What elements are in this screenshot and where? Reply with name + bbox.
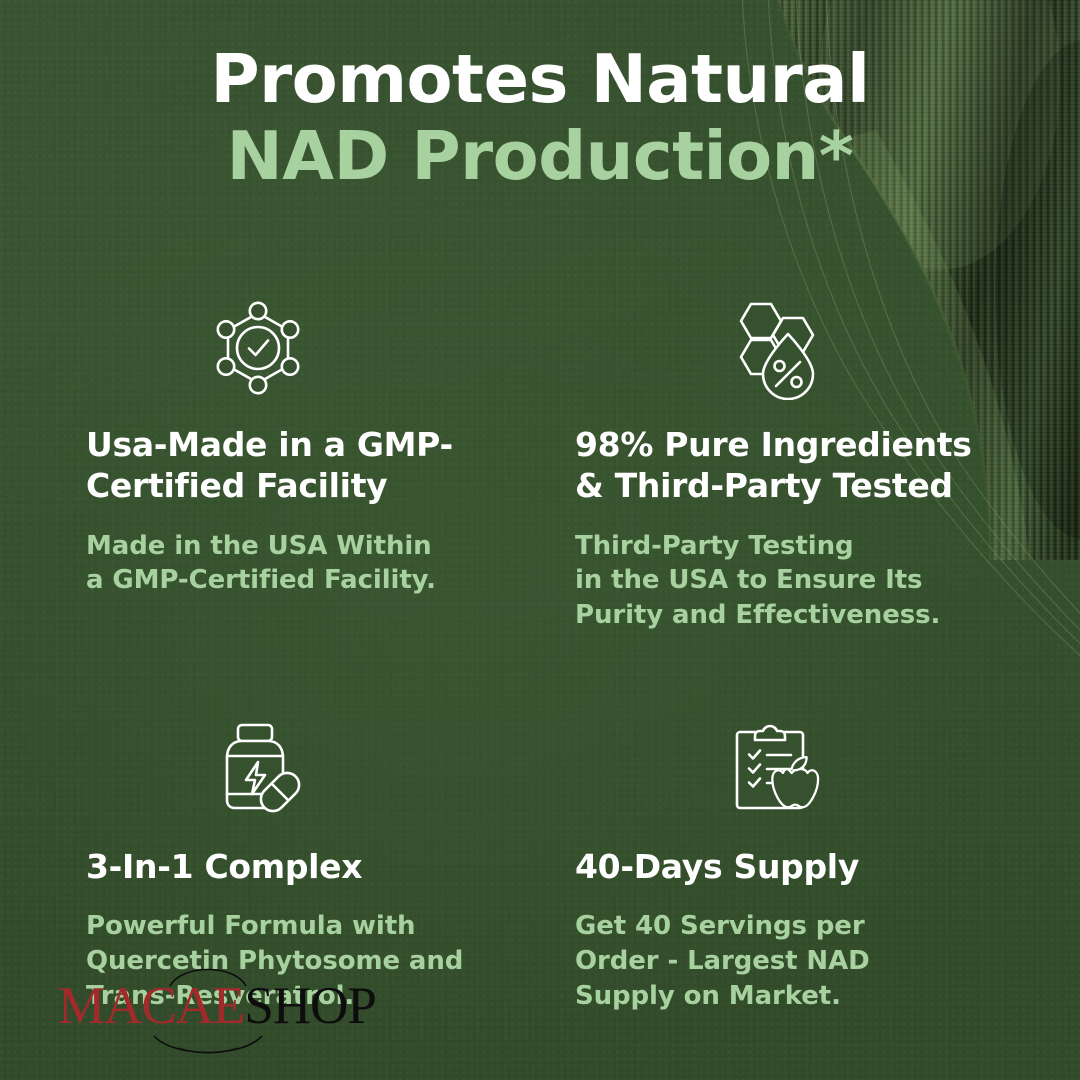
headline-line-2-text: NAD Production	[227, 117, 819, 195]
logo-part-shop: SHOP	[244, 977, 376, 1035]
feature-icon-slot	[575, 296, 1010, 400]
feature-title: Usa-Made in a GMP- Certified Facility	[86, 424, 505, 507]
feature-icon-slot	[575, 718, 1010, 822]
hexagon-droplet-percent-icon	[725, 296, 829, 400]
feature-card-usa-made: Usa-Made in a GMP- Certified Facility Ma…	[0, 296, 505, 633]
feature-title: 40-Days Supply	[575, 846, 1010, 887]
feature-title: 98% Pure Ingredients & Third-Party Teste…	[575, 424, 1010, 507]
supplement-bottle-capsule-icon	[206, 718, 310, 822]
logo-part-macae: MACAE	[58, 977, 244, 1035]
feature-row-1: Usa-Made in a GMP- Certified Facility Ma…	[0, 296, 1080, 633]
headline-line-2: NAD Production*	[0, 121, 1080, 192]
infographic-canvas: Promotes Natural NAD Production*	[0, 0, 1080, 1080]
feature-icon-slot	[86, 718, 505, 822]
logo-wordmark: MACAESHOP	[58, 980, 358, 1033]
molecule-check-icon	[206, 296, 310, 400]
feature-title: 3-In-1 Complex	[86, 846, 505, 887]
asterisk-mark: *	[819, 117, 854, 195]
feature-body: Made in the USA Within a GMP-Certified F…	[86, 529, 505, 599]
headline-line-1: Promotes Natural	[0, 44, 1080, 115]
feature-card-pure-ingredients: 98% Pure Ingredients & Third-Party Teste…	[505, 296, 1010, 633]
clipboard-checklist-apple-icon	[725, 718, 829, 822]
feature-grid: Usa-Made in a GMP- Certified Facility Ma…	[0, 296, 1080, 1014]
feature-icon-slot	[86, 296, 505, 400]
page-title: Promotes Natural NAD Production*	[0, 44, 1080, 192]
feature-card-40-days-supply: 40-Days Supply Get 40 Servings per Order…	[505, 718, 1010, 1014]
macaeshop-watermark-logo: MACAESHOP	[58, 958, 358, 1058]
feature-body: Third-Party Testing in the USA to Ensure…	[575, 529, 1010, 633]
feature-body: Get 40 Servings per Order - Largest NAD …	[575, 909, 1010, 1013]
